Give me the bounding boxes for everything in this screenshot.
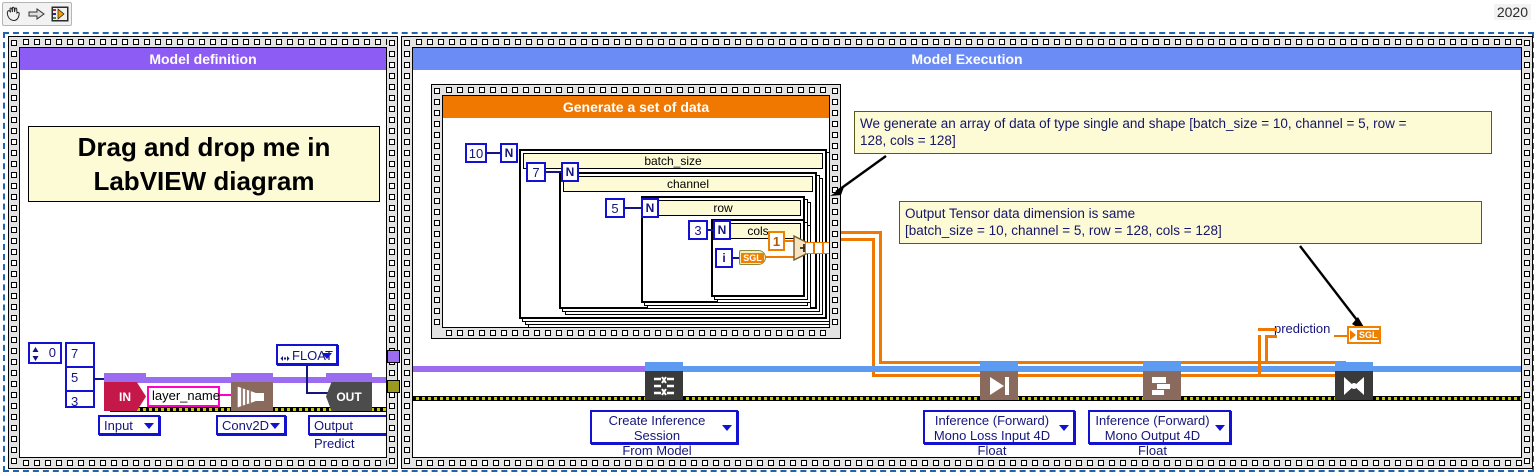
wire-sgl-to-add: [766, 256, 795, 258]
index-constant[interactable]: 0: [28, 342, 62, 364]
frame-strip-right: [1522, 37, 1532, 468]
frame-strip-bottom: [432, 328, 840, 338]
loop-label-row: row: [645, 200, 801, 216]
loop-n-terminal-batch-size[interactable]: N: [500, 143, 518, 163]
loop-count-channel[interactable]: 7: [526, 162, 546, 182]
frame-strip-bottom: [402, 458, 1532, 468]
frame-strip-left: [402, 37, 412, 468]
array-cell-1[interactable]: 5: [67, 368, 93, 392]
prediction-indicator[interactable]: SGL: [1347, 326, 1381, 344]
generate-note: We generate an array of data of type sin…: [854, 111, 1492, 154]
hand-tool-icon[interactable]: [4, 5, 24, 23]
inference-output-node[interactable]: [1143, 362, 1181, 400]
drop-hint-line2: LabVIEW diagram: [93, 164, 314, 198]
create-session-cap: [645, 362, 683, 371]
output-note-line2: [batch_size = 10, channel = 5, row = 128…: [905, 222, 1476, 239]
wire-pred-h2: [1258, 328, 1277, 331]
tunnel-purple-boundary[interactable]: [387, 350, 400, 363]
create-session-selector-line2: From Model: [596, 443, 718, 458]
output-predict-selector[interactable]: Output Predict: [308, 415, 387, 435]
enum-glyph-icon: [280, 350, 290, 369]
wire-pred-v1: [1265, 335, 1268, 361]
chevron-down-icon[interactable]: [1059, 425, 1069, 431]
inference-output-cap: [1143, 362, 1181, 371]
create-session-selector-line1: Create Inference Session: [596, 413, 718, 443]
conv2d-node-selector[interactable]: Conv2D: [216, 415, 286, 435]
output-node-icon: OUT: [326, 382, 372, 411]
create-inference-session-node[interactable]: [645, 362, 683, 400]
float-enum-constant[interactable]: FLOAT: [276, 344, 338, 365]
inference-forward-icon: [980, 371, 1018, 400]
wire-blue-bus: [645, 366, 1522, 372]
output-node-label: OUT: [336, 390, 361, 404]
chevron-down-icon[interactable]: [1215, 425, 1225, 431]
conv2d-node-cap: [231, 373, 273, 382]
create-inference-session-selector[interactable]: Create Inference Session From Model: [590, 410, 738, 444]
prediction-label: prediction: [1274, 321, 1330, 336]
frame-strip-bottom: [9, 458, 397, 468]
model-execution-frame[interactable]: Model Execution Generate a set of data b…: [401, 36, 1533, 469]
generate-data-inner: Generate a set of data batch_size 10 N: [442, 95, 830, 328]
wire-count-row: [625, 207, 641, 209]
frame-strip-top: [9, 37, 397, 47]
inference-loss-cap: [980, 362, 1018, 371]
frame-strip-left: [432, 85, 442, 338]
chevron-down-icon[interactable]: [144, 423, 154, 429]
inference-loss-input-selector[interactable]: Inference (Forward) Mono Loss Input 4D F…: [923, 410, 1075, 444]
frame-strip-top: [432, 85, 840, 95]
inference-loss-input-node[interactable]: [980, 362, 1018, 400]
generate-note-line1: We generate an array of data of type sin…: [860, 115, 1486, 132]
generate-note-line2: 128, cols = 128]: [860, 132, 1486, 149]
inference-output-icon: [1143, 371, 1181, 400]
inference-output-selector-line1: Inference (Forward): [1094, 413, 1211, 428]
frame-strip-top: [402, 37, 1532, 47]
wire-float-vertical: [306, 365, 308, 393]
loop-count-row[interactable]: 5: [605, 198, 625, 218]
loop-n-terminal-cols[interactable]: N: [713, 220, 731, 240]
loop-n-terminal-row[interactable]: N: [641, 198, 659, 218]
model-execution-inner: Model Execution Generate a set of data b…: [412, 47, 1522, 458]
inference-output-selector[interactable]: Inference (Forward) Mono Output 4D Float: [1088, 410, 1231, 444]
inference-loss-selector-line1: Inference (Forward): [929, 413, 1055, 428]
wire-generate-out-v2: [872, 238, 875, 377]
stepper-icon[interactable]: [31, 345, 40, 363]
generate-data-title: Generate a set of data: [443, 96, 829, 118]
input-node[interactable]: IN: [104, 373, 146, 411]
arrow-generate-note: [828, 154, 888, 198]
model-definition-title: Model definition: [20, 48, 386, 70]
labview-vi-icon[interactable]: [50, 5, 70, 23]
output-node-cap: [326, 373, 372, 382]
close-session-node[interactable]: [1335, 362, 1373, 400]
wire-pred-h1: [1265, 335, 1277, 338]
loop-i-terminal[interactable]: i: [715, 248, 733, 268]
add-constant[interactable]: 1: [768, 231, 785, 251]
tunnel-error-boundary[interactable]: [387, 380, 400, 393]
toolbar[interactable]: [2, 2, 72, 26]
indicator-arrow-icon: [1350, 330, 1356, 340]
output-note-line1: Output Tensor data dimension is same: [905, 205, 1476, 222]
close-session-icon: [1335, 371, 1373, 400]
model-definition-inner: Model definition Drag and drop me in Lab…: [19, 47, 387, 458]
model-definition-frame[interactable]: Model definition Drag and drop me in Lab…: [8, 36, 398, 469]
wire-count-batch-size: [487, 152, 500, 154]
input-node-cap: [104, 373, 146, 382]
input-node-selector[interactable]: Input: [98, 415, 160, 435]
wire-count-channel: [546, 171, 561, 173]
wire-purple-bus: [413, 366, 645, 372]
conv2d-node[interactable]: [231, 373, 273, 411]
chevron-down-icon[interactable]: [722, 425, 732, 431]
wire-generate-out-b2: [879, 361, 1346, 364]
tunnel-channel[interactable]: [823, 242, 830, 254]
labview-version-label: 2020: [1494, 4, 1531, 20]
input-node-label: IN: [119, 390, 131, 404]
block-diagram[interactable]: Model definition Drag and drop me in Lab…: [3, 32, 1534, 472]
tunnel-cols[interactable]: [805, 242, 814, 254]
wire-generate-out-v: [879, 231, 882, 363]
chevron-down-icon[interactable]: [270, 423, 280, 429]
frame-strip-left: [9, 37, 19, 468]
loop-label-channel: channel: [563, 176, 813, 192]
create-session-icon: [645, 371, 683, 400]
inference-loss-selector-line2: Mono Loss Input 4D Float: [929, 428, 1055, 458]
array-cell-2[interactable]: 3: [67, 392, 93, 412]
inference-output-selector-line2: Mono Output 4D Float: [1094, 428, 1211, 458]
loop-n-terminal-channel[interactable]: N: [561, 162, 579, 182]
drop-hint-line1: Drag and drop me in: [78, 130, 331, 164]
model-execution-title: Model Execution: [413, 48, 1521, 70]
layer-name-field[interactable]: layer_name: [147, 386, 220, 407]
loop-count-batch-size[interactable]: 10: [465, 143, 487, 163]
conv2d-node-icon: [231, 382, 273, 411]
tunnel-row[interactable]: [814, 242, 823, 254]
sgl-tag: SGL: [741, 253, 764, 263]
chevron-down-icon[interactable]: [322, 353, 332, 359]
frame-strip-right: [387, 37, 397, 468]
generate-data-frame[interactable]: Generate a set of data batch_size 10 N: [431, 84, 841, 339]
wire-count-cols: [708, 229, 713, 231]
wire-pred-v2: [1258, 335, 1261, 374]
loop-count-cols[interactable]: 3: [688, 220, 708, 240]
input-node-icon: IN: [104, 382, 146, 411]
arrow-right-icon[interactable]: [27, 5, 47, 23]
wire-generate-out-h: [841, 231, 882, 234]
array-cell-0[interactable]: 7: [67, 344, 93, 368]
sgl-convert-node[interactable]: SGL: [739, 250, 766, 265]
output-predict-node[interactable]: OUT: [326, 373, 372, 411]
prediction-sgl-tag: SGL: [1357, 330, 1380, 340]
wire-generate-out-b: [872, 374, 1346, 377]
array-constant[interactable]: 7 5 3: [65, 342, 95, 408]
close-session-cap: [1335, 362, 1373, 371]
output-note: Output Tensor data dimension is same [ba…: [899, 201, 1482, 244]
wire-generate-out-h2: [841, 238, 875, 241]
frame-strip-right: [830, 85, 840, 338]
drop-hint-box: Drag and drop me in LabVIEW diagram: [28, 126, 380, 202]
